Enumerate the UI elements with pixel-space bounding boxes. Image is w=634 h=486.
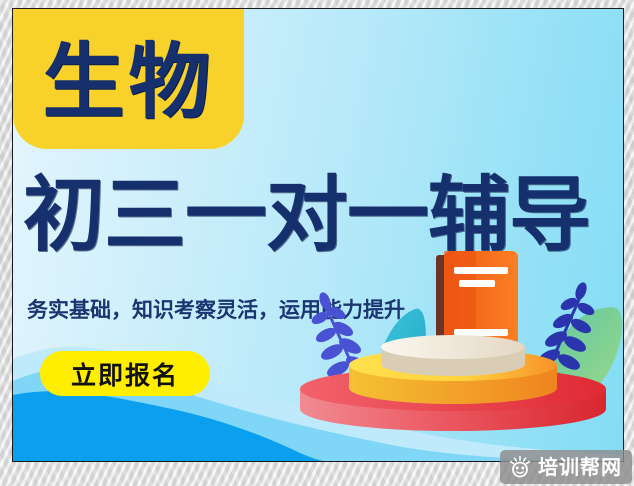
illustration-svg (281, 247, 624, 443)
watermark: 培训帮网 (500, 450, 632, 484)
register-now-button[interactable]: 立即报名 (40, 351, 210, 396)
book-cover-line (454, 329, 508, 336)
wave-layer-dark (13, 391, 324, 461)
book-cover-line (459, 280, 495, 287)
book-podium-illustration (281, 247, 624, 443)
podium-tier-top (381, 335, 525, 359)
subject-badge-label: 生物 (42, 34, 214, 124)
promo-banner: 生物 初三一对一辅导 务实基础，知识考察灵活，运用能力提升 立即报名 (12, 8, 624, 462)
book-cover-line (454, 267, 508, 274)
subject-badge: 生物 (13, 9, 244, 149)
page-title: 初三一对一辅导 (23, 175, 623, 257)
sun-eye-icon (508, 455, 532, 479)
register-now-label: 立即报名 (71, 356, 179, 392)
watermark-label: 培训帮网 (538, 457, 622, 477)
